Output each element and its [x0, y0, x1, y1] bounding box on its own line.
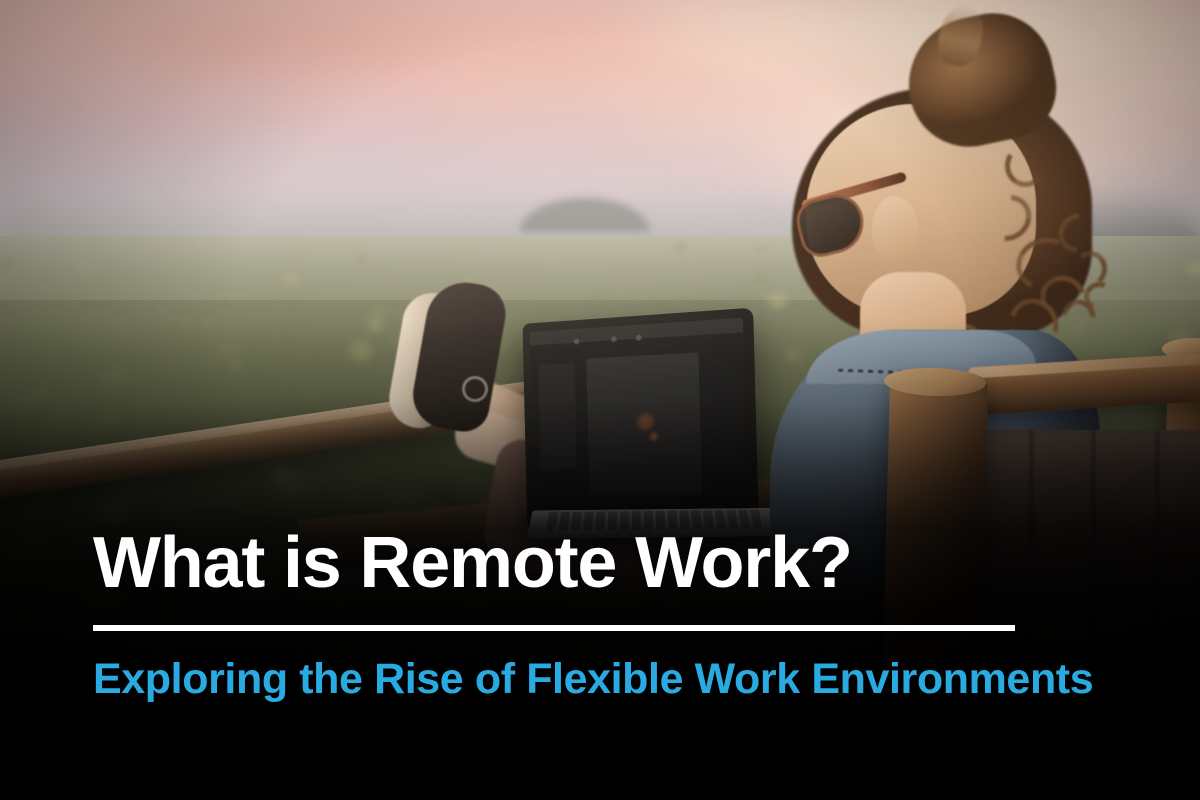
hero-banner: What is Remote Work? Exploring the Rise …	[0, 0, 1200, 800]
title-divider	[93, 625, 1015, 631]
page-title: What is Remote Work?	[93, 526, 852, 602]
page-subtitle: Exploring the Rise of Flexible Work Envi…	[93, 656, 1093, 703]
text-overlay: What is Remote Work? Exploring the Rise …	[0, 0, 1200, 800]
